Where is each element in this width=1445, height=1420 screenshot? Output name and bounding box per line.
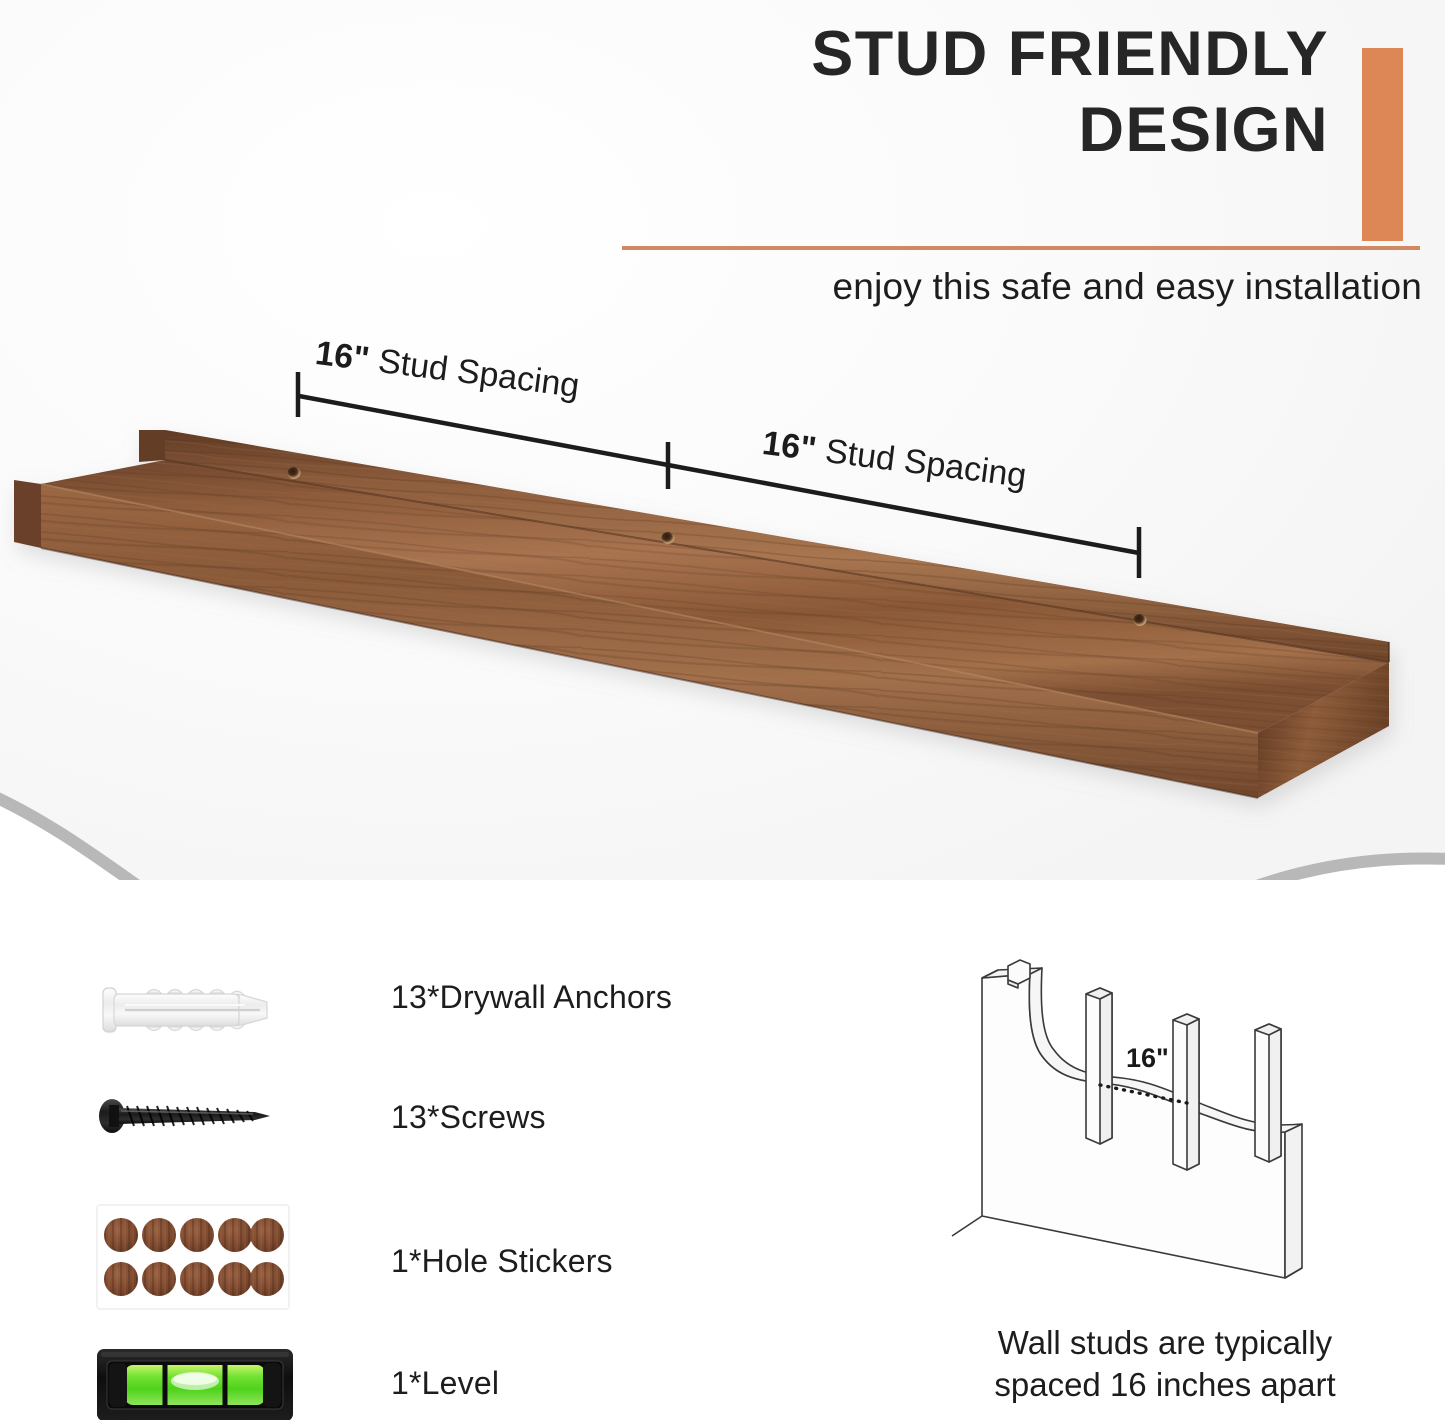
drywall-anchor-icon (95, 965, 305, 1075)
part-label: 1*Level (391, 1365, 499, 1402)
wall-scene: STUD FRIENDLY DESIGN enjoy this safe and… (0, 0, 1445, 900)
stud-spacing-value-1: 16" (313, 334, 371, 378)
stud-diagram-measure-label: 16" (1126, 1043, 1169, 1074)
product-infographic: STUD FRIENDLY DESIGN enjoy this safe and… (0, 0, 1445, 1420)
part-label: 13*Drywall Anchors (391, 979, 672, 1016)
stud-caption-line-1: Wall studs are typically (998, 1324, 1332, 1361)
headline-line-2: DESIGN (610, 98, 1425, 162)
part-label: 1*Hole Stickers (391, 1243, 613, 1280)
stud-spacing-label-1: 16" Stud Spacing (313, 334, 581, 406)
shelf-svg (0, 400, 1445, 860)
shelf-illustration (0, 400, 1445, 860)
stud-spacing-text-1: Stud Spacing (367, 341, 582, 405)
part-row: 1*Level (95, 1341, 755, 1420)
stud-spacing-value-2: 16" (760, 424, 818, 468)
headline-row: STUD FRIENDLY DESIGN (610, 22, 1425, 163)
screw-icon (95, 1083, 305, 1193)
screw-hole (662, 532, 675, 544)
bubble-level-icon (95, 1341, 305, 1420)
hole-stickers-icon (95, 1201, 305, 1311)
part-label: 13*Screws (391, 1099, 546, 1136)
orange-accent-bar (1362, 48, 1403, 241)
part-row: 13*Drywall Anchors (95, 965, 755, 1083)
title-divider-rule (622, 246, 1420, 250)
headline-line-1: STUD FRIENDLY (610, 22, 1425, 86)
headline-block: STUD FRIENDLY DESIGN (610, 22, 1425, 163)
parts-list: 13*Drywall Anchors (95, 965, 755, 1420)
stud-caption-line-2: spaced 16 inches apart (905, 1364, 1425, 1406)
wall-stud-diagram: 16" (930, 948, 1400, 1308)
part-row: 13*Screws (95, 1083, 755, 1201)
shelf-body (14, 430, 1389, 798)
stud-diagram-caption: Wall studs are typically spaced 16 inche… (905, 1322, 1425, 1406)
subtitle: enjoy this safe and easy installation (610, 266, 1422, 308)
screw-hole (288, 467, 301, 479)
part-row: 1*Hole Stickers (95, 1201, 755, 1341)
screw-hole (1134, 614, 1147, 626)
